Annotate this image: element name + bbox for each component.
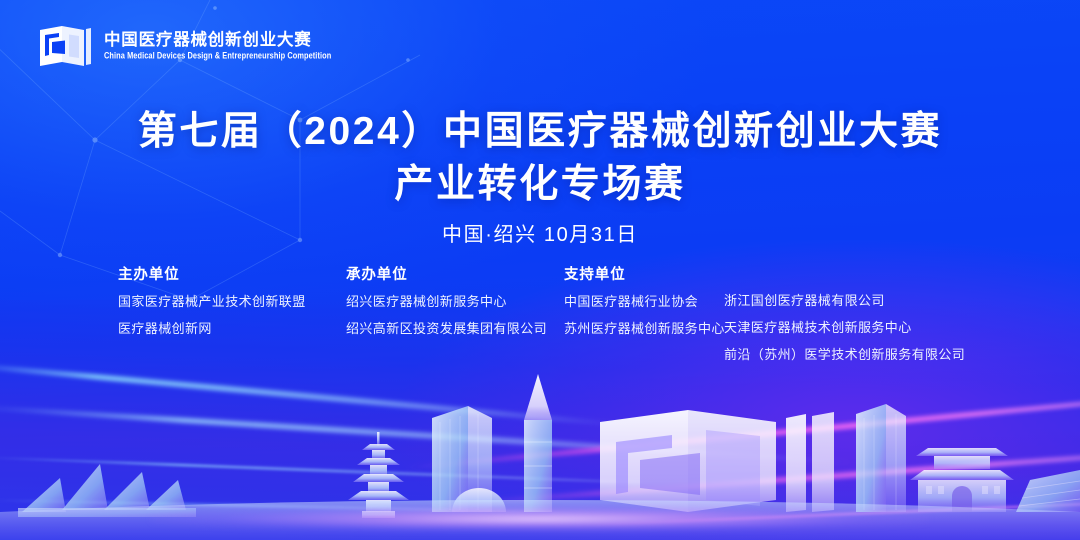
organizer-item: 绍兴高新区投资发展集团有限公司 (346, 322, 564, 335)
organizer-item: 前沿（苏州）医学技术创新服务有限公司 (724, 348, 994, 361)
organizer-groups: 主办单位 国家医疗器械产业技术创新联盟 医疗器械创新网 承办单位 绍兴医疗器械创… (118, 268, 1008, 361)
organizer-item: 中国医疗器械行业协会 (564, 295, 724, 308)
event-banner: 中国医疗器械创新创业大赛 China Medical Devices Desig… (0, 0, 1080, 540)
organizer-heading: 主办单位 (118, 268, 346, 283)
glass-twin-tower (856, 404, 906, 512)
organizer-column-undertaker: 承办单位 绍兴医疗器械创新服务中心 绍兴高新区投资发展集团有限公司 (346, 268, 564, 335)
competition-logo-monument (600, 410, 834, 512)
event-title-line1: 第七届（2024）中国医疗器械创新创业大赛 (0, 106, 1080, 157)
organizer-heading: 承办单位 (346, 268, 564, 283)
organizer-item: 绍兴医疗器械创新服务中心 (346, 295, 564, 308)
title-block: 第七届（2024）中国医疗器械创新创业大赛 产业转化专场赛 (0, 106, 1080, 211)
organizer-item: 浙江国创医疗器械有限公司 (724, 294, 994, 307)
brand-name-en: China Medical Devices Design & Entrepren… (104, 51, 331, 60)
organizer-column-host: 主办单位 国家医疗器械产业技术创新联盟 医疗器械创新网 (118, 268, 346, 335)
organizer-heading: 支持单位 (564, 268, 724, 283)
event-title-line2: 产业转化专场赛 (0, 159, 1080, 210)
competition-book-logo-icon (38, 22, 93, 70)
organizer-item: 医疗器械创新网 (118, 322, 346, 335)
organizer-item: 国家医疗器械产业技术创新联盟 (118, 295, 346, 308)
organizer-column-supporter: 支持单位 中国医疗器械行业协会 苏州医疗器械创新服务中心 (564, 268, 724, 335)
traditional-gate-tower (910, 448, 1014, 512)
brand-header: 中国医疗器械创新创业大赛 China Medical Devices Desig… (38, 22, 331, 70)
organizer-item: 天津医疗器械技术创新服务中心 (724, 321, 994, 334)
organizer-item: 苏州医疗器械创新服务中心 (564, 322, 724, 335)
event-location-date: 中国·绍兴 10月31日 (0, 218, 1080, 247)
spire-tower (524, 374, 552, 512)
ground-light-sheen (150, 506, 930, 532)
brand-name-cn: 中国医疗器械创新创业大赛 (104, 32, 331, 49)
organizer-column-supporter-extra: 浙江国创医疗器械有限公司 天津医疗器械技术创新服务中心 前沿（苏州）医学技术创新… (724, 268, 994, 361)
stepped-terrace-building (1016, 470, 1080, 512)
